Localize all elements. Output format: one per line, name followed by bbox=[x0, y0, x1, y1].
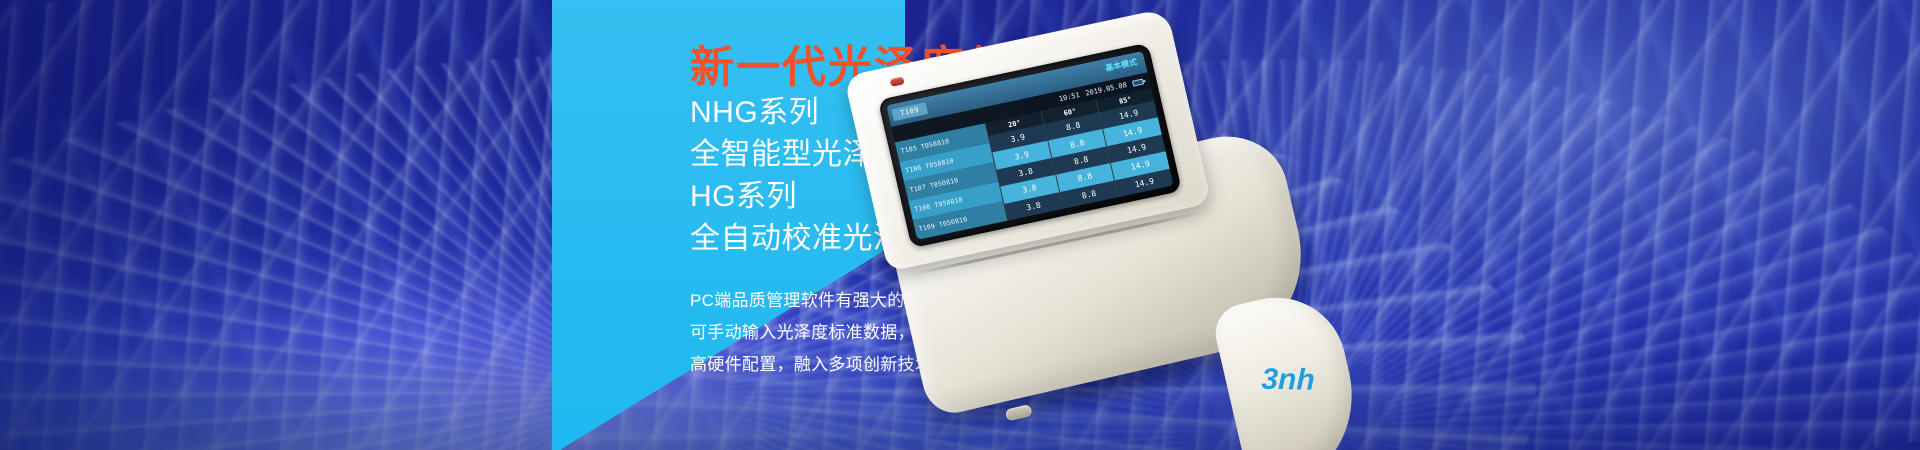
screen-mode-title: 基本模式 bbox=[1104, 57, 1138, 74]
screen-time: 10:51 bbox=[1058, 91, 1080, 103]
brand-logo: 3nh bbox=[1261, 363, 1315, 398]
device-screen-bezel: T109 基本模式 10:51 2019.05.08 bbox=[878, 43, 1182, 248]
device-indicator-light bbox=[889, 76, 904, 87]
subtitle-line-3: HG系列 bbox=[690, 182, 797, 212]
product-banner: 新一代光泽度仪 NHG系列 全智能型光泽度仪 HG系列 全自动校准光泽度仪 PC… bbox=[0, 0, 1920, 450]
gloss-meter-device: 3nh T109 基本模式 bbox=[838, 0, 1342, 450]
table-value-columns: 20° 3.9 3.9 3.8 3.8 3.8 60° 8.8 8.8 bbox=[985, 88, 1174, 221]
subtitle-line-1: NHG系列 bbox=[690, 98, 819, 128]
device-screen[interactable]: T109 基本模式 10:51 2019.05.08 bbox=[886, 51, 1173, 240]
screen-sample-tab[interactable]: T109 bbox=[891, 102, 928, 121]
battery-icon bbox=[1132, 79, 1144, 87]
